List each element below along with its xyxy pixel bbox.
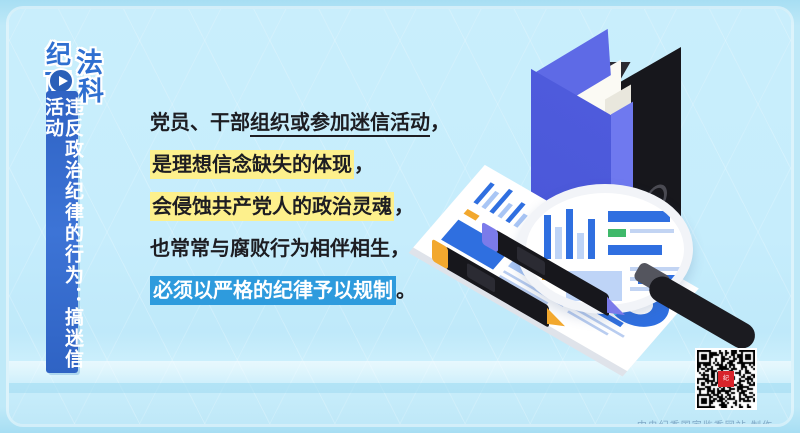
body-line: 党员、干部组织或参加迷信活动，: [150, 112, 480, 132]
body-text-segment: 党员、干部: [150, 110, 250, 134]
body-line: 必须以严格的纪律予以规制。: [150, 280, 480, 300]
body-text-segment: 组织或参加迷信活动: [250, 110, 430, 137]
poster-root: 纪 法 百 科 违反政治纪律的行为：搞迷信活动 党员、干部组织或参加迷信活动， …: [0, 0, 800, 433]
vertical-title-ribbon: 违反政治纪律的行为：搞迷信活动: [46, 91, 78, 373]
body-text-segment: 。: [396, 278, 416, 302]
body-line: 是理想信念缺失的体现，: [150, 154, 480, 174]
body-text-segment: 必须以严格的纪律予以规制: [150, 276, 396, 305]
illustration: [439, 44, 769, 384]
body-line: 会侵蚀共产党人的政治灵魂，: [150, 196, 480, 216]
body-text-segment: 也常常与腐败行为相伴相生，: [150, 236, 410, 260]
body-copy: 党员、干部组织或参加迷信活动， 是理想信念缺失的体现， 会侵蚀共产党人的政治灵魂…: [150, 112, 480, 300]
floor-band-shadow: [9, 383, 791, 393]
ribbon-text: 违反政治纪律的行为：搞迷信活动: [42, 97, 82, 373]
body-text-segment: 会侵蚀共产党人的政治灵魂: [150, 192, 394, 221]
poster-canvas: 纪 法 百 科 违反政治纪律的行为：搞迷信活动 党员、干部组织或参加迷信活动， …: [9, 9, 791, 424]
inner-frame: 纪 法 百 科 违反政治纪律的行为：搞迷信活动 党员、干部组织或参加迷信活动， …: [9, 9, 791, 424]
qr-seal: 纪: [718, 371, 734, 387]
body-text-segment: 是理想信念缺失的体现: [150, 150, 354, 179]
body-text-segment: ，: [354, 152, 374, 176]
body-text-segment: ，: [394, 194, 414, 218]
footer-credit: 中央纪委国家监委网站 制作: [9, 417, 773, 424]
qr-code[interactable]: 纪: [695, 348, 757, 410]
